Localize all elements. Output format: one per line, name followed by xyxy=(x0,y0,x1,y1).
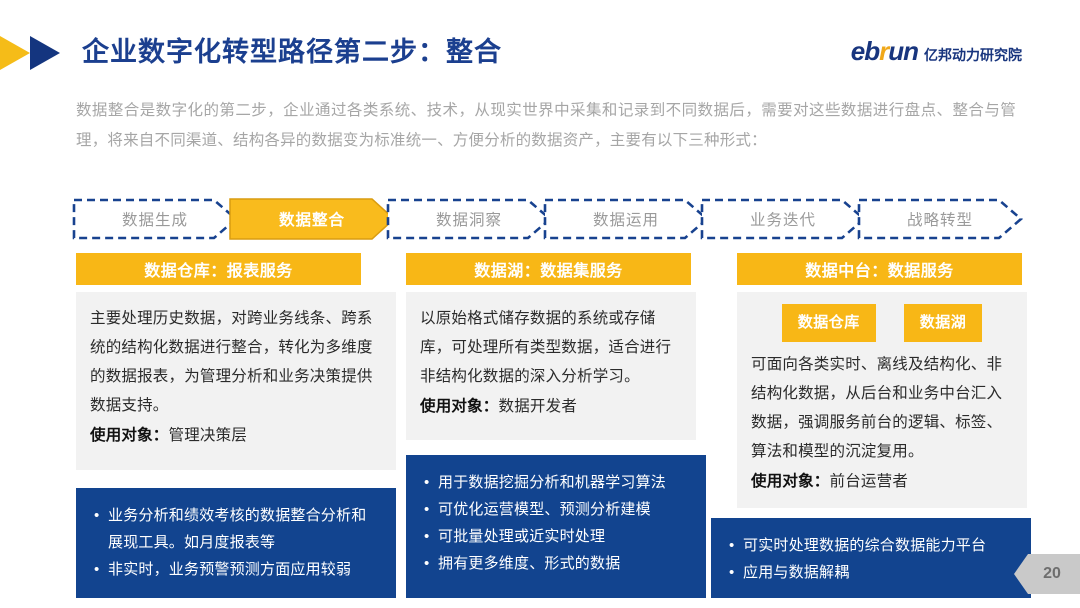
column-usage-value: 数据开发者 xyxy=(499,398,578,415)
tag-data-warehouse[interactable]: 数据仓库 xyxy=(782,304,876,342)
column-body-data-warehouse: 主要处理历史数据，对跨业务线条、跨系统的结构化数据进行整合，转化为多维度的数据报… xyxy=(76,292,396,470)
column-header-data-middle-platform: 数据中台：数据服务 xyxy=(737,253,1022,285)
column-usage: 使用对象：数据开发者 xyxy=(420,392,682,421)
step-label: 战略转型 xyxy=(907,208,973,230)
bullet-item: 用于数据挖掘分析和机器学习算法 xyxy=(424,469,690,496)
tag-data-lake[interactable]: 数据湖 xyxy=(904,304,983,342)
column-bullets-data-warehouse: 业务分析和绩效考核的数据整合分析和展现工具。如月度报表等 非实时，业务预警预测方… xyxy=(76,488,396,598)
column-body-data-lake: 以原始格式储存数据的系统或存储库，可处理所有类型数据，适合进行非结构化数据的深入… xyxy=(406,292,696,440)
page-number-badge: 20 xyxy=(1014,554,1080,594)
bullet-item: 可优化运营模型、预测分析建模 xyxy=(424,496,690,523)
bullet-list: 业务分析和绩效考核的数据整合分析和展现工具。如月度报表等 非实时，业务预警预测方… xyxy=(94,502,380,583)
step-label: 数据运用 xyxy=(593,208,659,230)
column-description: 主要处理历史数据，对跨业务线条、跨系统的结构化数据进行整合，转化为多维度的数据报… xyxy=(90,304,382,420)
bullet-item: 业务分析和绩效考核的数据整合分析和展现工具。如月度报表等 xyxy=(94,502,380,556)
column-description: 以原始格式储存数据的系统或存储库，可处理所有类型数据，适合进行非结构化数据的深入… xyxy=(420,304,682,391)
slide-root: 企业数字化转型路径第二步：整合 ebrun 亿邦动力研究院 数据整合是数字化的第… xyxy=(0,0,1080,608)
column-tags: 数据仓库 数据湖 xyxy=(751,304,1013,342)
column-body-data-middle-platform: 数据仓库 数据湖 可面向各类实时、离线及结构化、非结构化数据，从后台和业务中台汇… xyxy=(737,292,1027,508)
content-columns: 数据仓库：报表服务 主要处理历史数据，对跨业务线条、跨系统的结构化数据进行整合，… xyxy=(0,0,1080,608)
column-usage-label: 使用对象： xyxy=(751,473,830,490)
bullet-list: 可实时处理数据的综合数据能力平台 应用与数据解耦 xyxy=(729,532,1015,586)
column-usage-value: 前台运营者 xyxy=(830,473,909,490)
column-usage-label: 使用对象： xyxy=(90,427,169,444)
bullet-item: 应用与数据解耦 xyxy=(729,559,1015,586)
page-number: 20 xyxy=(1033,565,1061,583)
step-label: 业务迭代 xyxy=(750,208,816,230)
column-description: 可面向各类实时、离线及结构化、非结构化数据，从后台和业务中台汇入数据，强调服务前… xyxy=(751,350,1013,466)
bullet-item: 拥有更多维度、形式的数据 xyxy=(424,550,690,577)
step-label: 数据生成 xyxy=(122,208,188,230)
column-bullets-data-lake: 用于数据挖掘分析和机器学习算法 可优化运营模型、预测分析建模 可批量处理或近实时… xyxy=(406,455,706,598)
step-label: 数据洞察 xyxy=(436,208,502,230)
column-usage: 使用对象：管理决策层 xyxy=(90,421,382,450)
bullet-item: 可批量处理或近实时处理 xyxy=(424,523,690,550)
column-usage: 使用对象：前台运营者 xyxy=(751,467,1013,496)
bullet-list: 用于数据挖掘分析和机器学习算法 可优化运营模型、预测分析建模 可批量处理或近实时… xyxy=(424,469,690,577)
step-label: 数据整合 xyxy=(279,208,345,230)
bullet-item: 非实时，业务预警预测方面应用较弱 xyxy=(94,556,380,583)
column-bullets-data-middle-platform: 可实时处理数据的综合数据能力平台 应用与数据解耦 xyxy=(711,518,1031,598)
column-header-data-warehouse: 数据仓库：报表服务 xyxy=(76,253,361,285)
column-usage-value: 管理决策层 xyxy=(169,427,248,444)
column-header-data-lake: 数据湖：数据集服务 xyxy=(406,253,691,285)
bullet-item: 可实时处理数据的综合数据能力平台 xyxy=(729,532,1015,559)
column-usage-label: 使用对象： xyxy=(420,398,499,415)
